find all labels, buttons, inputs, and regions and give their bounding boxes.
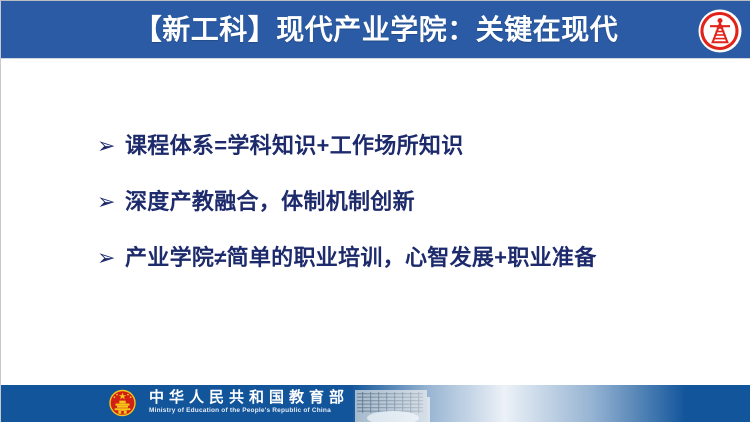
arrow-bullet-icon: ➢: [97, 131, 125, 161]
footer-gradient-sheen: [356, 385, 686, 422]
slide-footer: 中华人民共和国教育部 Ministry of Education of the …: [1, 385, 750, 422]
slide-title: 【新工科】现代产业学院：关键在现代: [1, 1, 750, 59]
bullet-text: 产业学院≠简单的职业培训，心智发展+职业准备: [125, 243, 731, 273]
arrow-bullet-icon: ➢: [97, 187, 125, 217]
arrow-bullet-icon: ➢: [97, 243, 125, 273]
china-national-emblem: [107, 388, 138, 419]
list-item: ➢ 深度产教融合，体制机制创新: [97, 187, 731, 217]
ministry-name-cn: 中华人民共和国教育部: [149, 389, 349, 406]
bullet-text: 课程体系=学科知识+工作场所知识: [125, 131, 731, 161]
ministry-name-block: 中华人民共和国教育部 Ministry of Education of the …: [149, 389, 349, 419]
list-item: ➢ 课程体系=学科知识+工作场所知识: [97, 131, 731, 161]
bullet-text: 深度产教融合，体制机制创新: [125, 187, 731, 217]
university-derrick-logo: [698, 9, 742, 53]
slide-body: ➢ 课程体系=学科知识+工作场所知识 ➢ 深度产教融合，体制机制创新 ➢ 产业学…: [1, 59, 750, 386]
slide-title-bar: 【新工科】现代产业学院：关键在现代: [1, 1, 750, 59]
presentation-slide: 【新工科】现代产业学院：关键在现代 ➢ 课程体系=学科知识+工作场所知识: [0, 0, 750, 422]
bullet-list: ➢ 课程体系=学科知识+工作场所知识 ➢ 深度产教融合，体制机制创新 ➢ 产业学…: [97, 131, 731, 273]
ministry-name-en: Ministry of Education of the People's Re…: [149, 406, 349, 416]
list-item: ➢ 产业学院≠简单的职业培训，心智发展+职业准备: [97, 243, 731, 273]
